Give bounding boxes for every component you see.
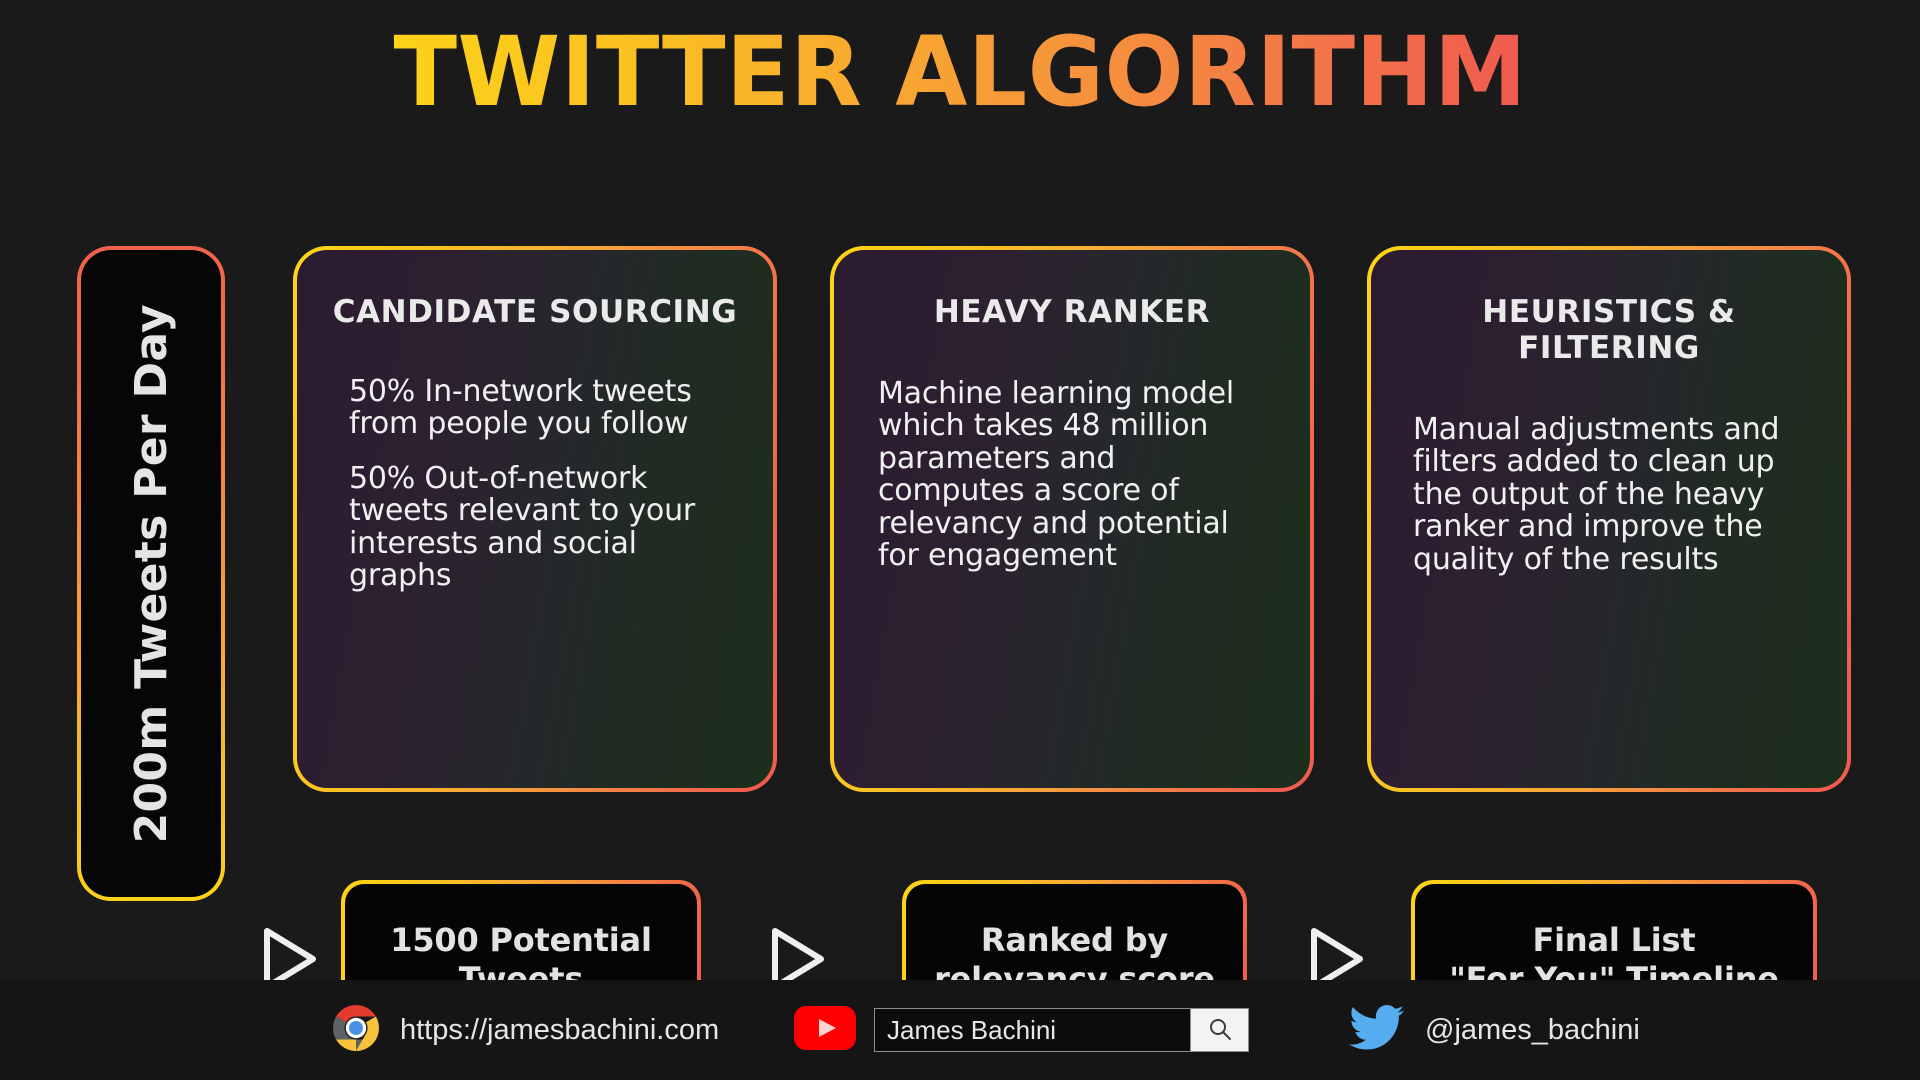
- infographic-canvas: 200m Tweets Per Day CANDIDATE SOURCING 5…: [0, 143, 1920, 980]
- stage-card-heuristics-filtering: HEURISTICS & FILTERING Manual adjustment…: [1367, 246, 1851, 792]
- stage-paragraph: Manual adjustments and filters added to …: [1413, 414, 1807, 576]
- stage-paragraph: 50% Out-of-network tweets relevant to yo…: [349, 463, 733, 593]
- stage-card-candidate-sourcing-inner: CANDIDATE SOURCING 50% In-network tweets…: [297, 250, 773, 788]
- youtube-search-input[interactable]: [875, 1009, 1190, 1051]
- stage-body-candidate-sourcing: 50% In-network tweets from people you fo…: [331, 376, 739, 592]
- chrome-icon: [332, 1004, 380, 1057]
- stage-paragraph: 50% In-network tweets from people you fo…: [349, 376, 733, 441]
- search-icon: [1207, 1016, 1233, 1045]
- input-volume-label: 200m Tweets Per Day: [126, 304, 177, 843]
- input-volume-card-inner: 200m Tweets Per Day: [81, 250, 221, 897]
- stage-card-heuristics-filtering-inner: HEURISTICS & FILTERING Manual adjustment…: [1371, 250, 1847, 788]
- footer-youtube: [794, 1006, 1249, 1055]
- footer-twitter-label: @james_bachini: [1425, 1014, 1640, 1047]
- stage-card-candidate-sourcing: CANDIDATE SOURCING 50% In-network tweets…: [293, 246, 777, 792]
- youtube-icon[interactable]: [794, 1006, 856, 1055]
- page-title: TWITTER ALGORITHM: [393, 24, 1527, 120]
- footer-bar: https://jamesbachini.com: [0, 980, 1920, 1080]
- youtube-search-box: [874, 1008, 1249, 1052]
- footer-website[interactable]: https://jamesbachini.com: [332, 1004, 719, 1057]
- footer-twitter[interactable]: @james_bachini: [1349, 1005, 1640, 1056]
- stage-card-heavy-ranker-inner: HEAVY RANKER Machine learning model whic…: [834, 250, 1310, 788]
- twitter-bird-icon: [1349, 1005, 1405, 1056]
- stage-title-heavy-ranker: HEAVY RANKER: [868, 294, 1276, 330]
- stage-card-heavy-ranker: HEAVY RANKER Machine learning model whic…: [830, 246, 1314, 792]
- stage-paragraph: Machine learning model which takes 48 mi…: [878, 378, 1270, 572]
- stage-title-heuristics-filtering: HEURISTICS & FILTERING: [1405, 294, 1813, 366]
- youtube-search-button[interactable]: [1190, 1009, 1248, 1051]
- stage-body-heavy-ranker: Machine learning model which takes 48 mi…: [868, 378, 1276, 572]
- input-volume-card: 200m Tweets Per Day: [77, 246, 225, 901]
- header-bar: TWITTER ALGORITHM: [0, 0, 1920, 143]
- stage-title-candidate-sourcing: CANDIDATE SOURCING: [331, 294, 739, 330]
- footer-website-label: https://jamesbachini.com: [400, 1014, 719, 1047]
- stage-body-heuristics-filtering: Manual adjustments and filters added to …: [1405, 414, 1813, 576]
